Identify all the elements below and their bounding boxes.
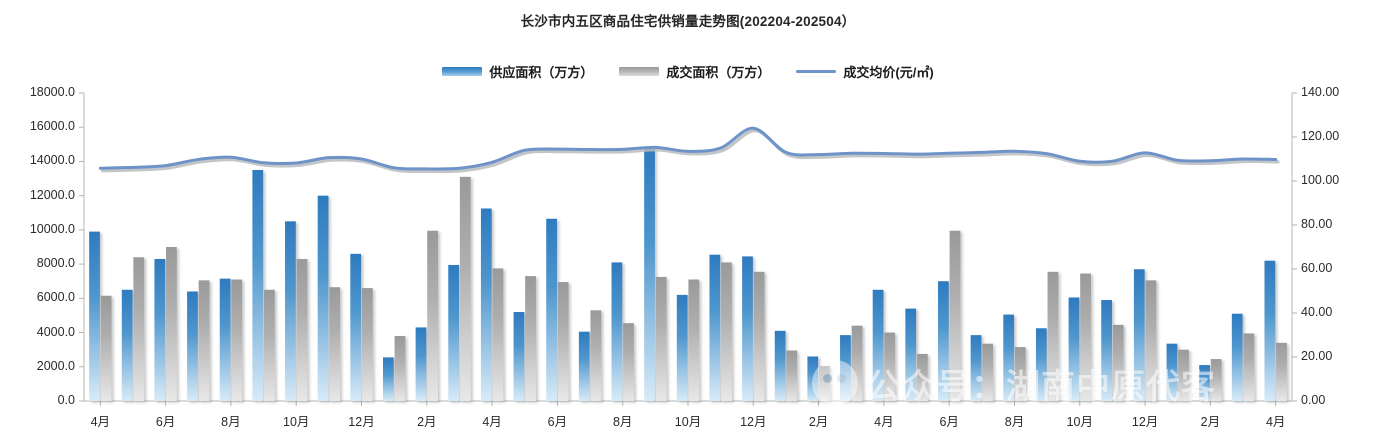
bar-supply-33 bbox=[1167, 344, 1178, 401]
bar-sold-35 bbox=[1243, 333, 1254, 401]
bar-sold-12 bbox=[493, 268, 504, 401]
bar-sold-34 bbox=[1211, 359, 1222, 401]
bar-supply-3 bbox=[187, 291, 198, 401]
bar-supply-10 bbox=[416, 327, 427, 401]
bar-supply-26 bbox=[938, 281, 949, 401]
bar-supply-15 bbox=[579, 332, 590, 401]
bar-supply-29 bbox=[1036, 328, 1047, 401]
bar-sold-23 bbox=[852, 326, 863, 401]
bar-supply-22 bbox=[807, 357, 818, 401]
y-axis-left-label: 0.0 bbox=[58, 393, 75, 407]
y-axis-right-label: 0.00 bbox=[1301, 393, 1325, 407]
y-axis-right-label: 80.00 bbox=[1301, 217, 1332, 231]
bar-sold-17 bbox=[656, 277, 667, 401]
bar-sold-6 bbox=[297, 259, 308, 401]
bar-sold-20 bbox=[754, 272, 765, 401]
x-axis-label-30: 10月 bbox=[1050, 411, 1110, 430]
x-axis-label-10: 2月 bbox=[397, 411, 457, 430]
bar-sold-3 bbox=[199, 280, 210, 401]
bar-supply-25 bbox=[905, 309, 916, 401]
bar-supply-11 bbox=[448, 265, 459, 401]
bar-sold-28 bbox=[1015, 347, 1026, 401]
bar-sold-7 bbox=[329, 287, 340, 401]
x-axis-label-26: 6月 bbox=[919, 411, 979, 430]
y-axis-left-label: 16000.0 bbox=[30, 119, 75, 133]
x-axis-label-18: 10月 bbox=[658, 411, 718, 430]
bar-sold-36 bbox=[1276, 343, 1287, 401]
bar-supply-14 bbox=[546, 219, 557, 401]
bar-sold-22 bbox=[819, 366, 830, 401]
bar-sold-11 bbox=[460, 177, 471, 401]
plot-area bbox=[0, 0, 1376, 448]
bar-sold-1 bbox=[133, 257, 144, 401]
bar-supply-0 bbox=[89, 232, 100, 401]
bar-sold-30 bbox=[1080, 274, 1091, 401]
price-line-group bbox=[100, 128, 1278, 171]
y-axis-left-label: 12000.0 bbox=[30, 188, 75, 202]
chart-container: 长沙市内五区商品住宅供销量走势图(202204-202504） 供应面积（万方）… bbox=[0, 0, 1376, 448]
bar-supply-27 bbox=[971, 335, 982, 401]
bar-supply-35 bbox=[1232, 314, 1243, 401]
x-axis-label-34: 2月 bbox=[1180, 411, 1240, 430]
bar-supply-20 bbox=[742, 256, 753, 401]
bar-supply-31 bbox=[1101, 300, 1112, 401]
y-axis-right-label: 60.00 bbox=[1301, 261, 1332, 275]
y-axis-right-label: 20.00 bbox=[1301, 349, 1332, 363]
y-axis-left-label: 6000.0 bbox=[37, 290, 75, 304]
bar-sold-8 bbox=[362, 288, 373, 401]
bar-supply-21 bbox=[775, 331, 786, 401]
x-axis-label-2: 6月 bbox=[136, 411, 196, 430]
bar-supply-32 bbox=[1134, 269, 1145, 401]
bar-sold-25 bbox=[917, 354, 928, 401]
x-axis-label-36: 4月 bbox=[1246, 411, 1306, 430]
x-axis-label-0: 4月 bbox=[70, 411, 130, 430]
bar-supply-6 bbox=[285, 221, 296, 401]
bar-supply-4 bbox=[220, 279, 231, 401]
price-line bbox=[100, 128, 1275, 169]
bar-sold-32 bbox=[1145, 280, 1156, 401]
y-axis-left-label: 14000.0 bbox=[30, 153, 75, 167]
bar-supply-28 bbox=[1003, 315, 1014, 401]
x-axis-label-28: 8月 bbox=[984, 411, 1044, 430]
x-axis-label-6: 10月 bbox=[266, 411, 326, 430]
bars-group bbox=[89, 148, 1287, 401]
bar-supply-24 bbox=[873, 290, 884, 401]
bar-sold-18 bbox=[688, 280, 699, 401]
bar-sold-27 bbox=[982, 344, 993, 401]
x-axis-label-14: 6月 bbox=[527, 411, 587, 430]
bar-sold-0 bbox=[101, 296, 112, 401]
x-axis-label-16: 8月 bbox=[593, 411, 653, 430]
x-axis-label-4: 8月 bbox=[201, 411, 261, 430]
bar-sold-5 bbox=[264, 290, 275, 401]
y-axis-right-label: 140.00 bbox=[1301, 85, 1339, 99]
x-axis-label-20: 12月 bbox=[723, 411, 783, 430]
bar-supply-8 bbox=[350, 254, 361, 401]
bar-sold-15 bbox=[590, 310, 601, 401]
x-axis-label-32: 12月 bbox=[1115, 411, 1175, 430]
y-axis-right-label: 40.00 bbox=[1301, 305, 1332, 319]
y-axis-right-label: 100.00 bbox=[1301, 173, 1339, 187]
bar-supply-30 bbox=[1069, 297, 1080, 401]
bar-supply-2 bbox=[154, 259, 165, 401]
x-axis-label-12: 4月 bbox=[462, 411, 522, 430]
bar-sold-24 bbox=[884, 333, 895, 401]
bar-sold-9 bbox=[395, 336, 406, 401]
y-axis-left-label: 2000.0 bbox=[37, 359, 75, 373]
bar-sold-16 bbox=[623, 323, 634, 401]
bar-supply-18 bbox=[677, 295, 688, 401]
bar-supply-5 bbox=[252, 170, 263, 401]
y-axis-left-label: 4000.0 bbox=[37, 325, 75, 339]
bar-supply-17 bbox=[644, 148, 655, 401]
x-axis-label-22: 2月 bbox=[789, 411, 849, 430]
bar-sold-4 bbox=[231, 280, 242, 401]
bar-supply-13 bbox=[514, 312, 525, 401]
bar-supply-1 bbox=[122, 290, 133, 401]
bar-supply-36 bbox=[1264, 261, 1275, 401]
y-axis-left-label: 8000.0 bbox=[37, 256, 75, 270]
bar-sold-14 bbox=[558, 282, 569, 401]
bar-supply-34 bbox=[1199, 365, 1210, 401]
bar-supply-9 bbox=[383, 357, 394, 401]
bar-supply-16 bbox=[612, 262, 623, 401]
y-axis-left-label: 10000.0 bbox=[30, 222, 75, 236]
bar-supply-7 bbox=[318, 196, 329, 401]
bar-sold-21 bbox=[786, 351, 797, 401]
bar-sold-26 bbox=[950, 231, 961, 401]
bar-sold-29 bbox=[1048, 272, 1059, 401]
bar-supply-23 bbox=[840, 335, 851, 401]
bar-sold-31 bbox=[1113, 325, 1124, 401]
bar-sold-2 bbox=[166, 247, 177, 401]
bar-sold-10 bbox=[427, 231, 438, 401]
bar-sold-13 bbox=[525, 276, 536, 401]
bar-sold-33 bbox=[1178, 350, 1189, 401]
bar-supply-19 bbox=[709, 255, 720, 401]
bar-supply-12 bbox=[481, 209, 492, 402]
y-axis-right-label: 120.00 bbox=[1301, 129, 1339, 143]
x-axis-label-24: 4月 bbox=[854, 411, 914, 430]
bar-sold-19 bbox=[721, 262, 732, 401]
x-axis-label-8: 12月 bbox=[332, 411, 392, 430]
y-axis-left-label: 18000.0 bbox=[30, 85, 75, 99]
